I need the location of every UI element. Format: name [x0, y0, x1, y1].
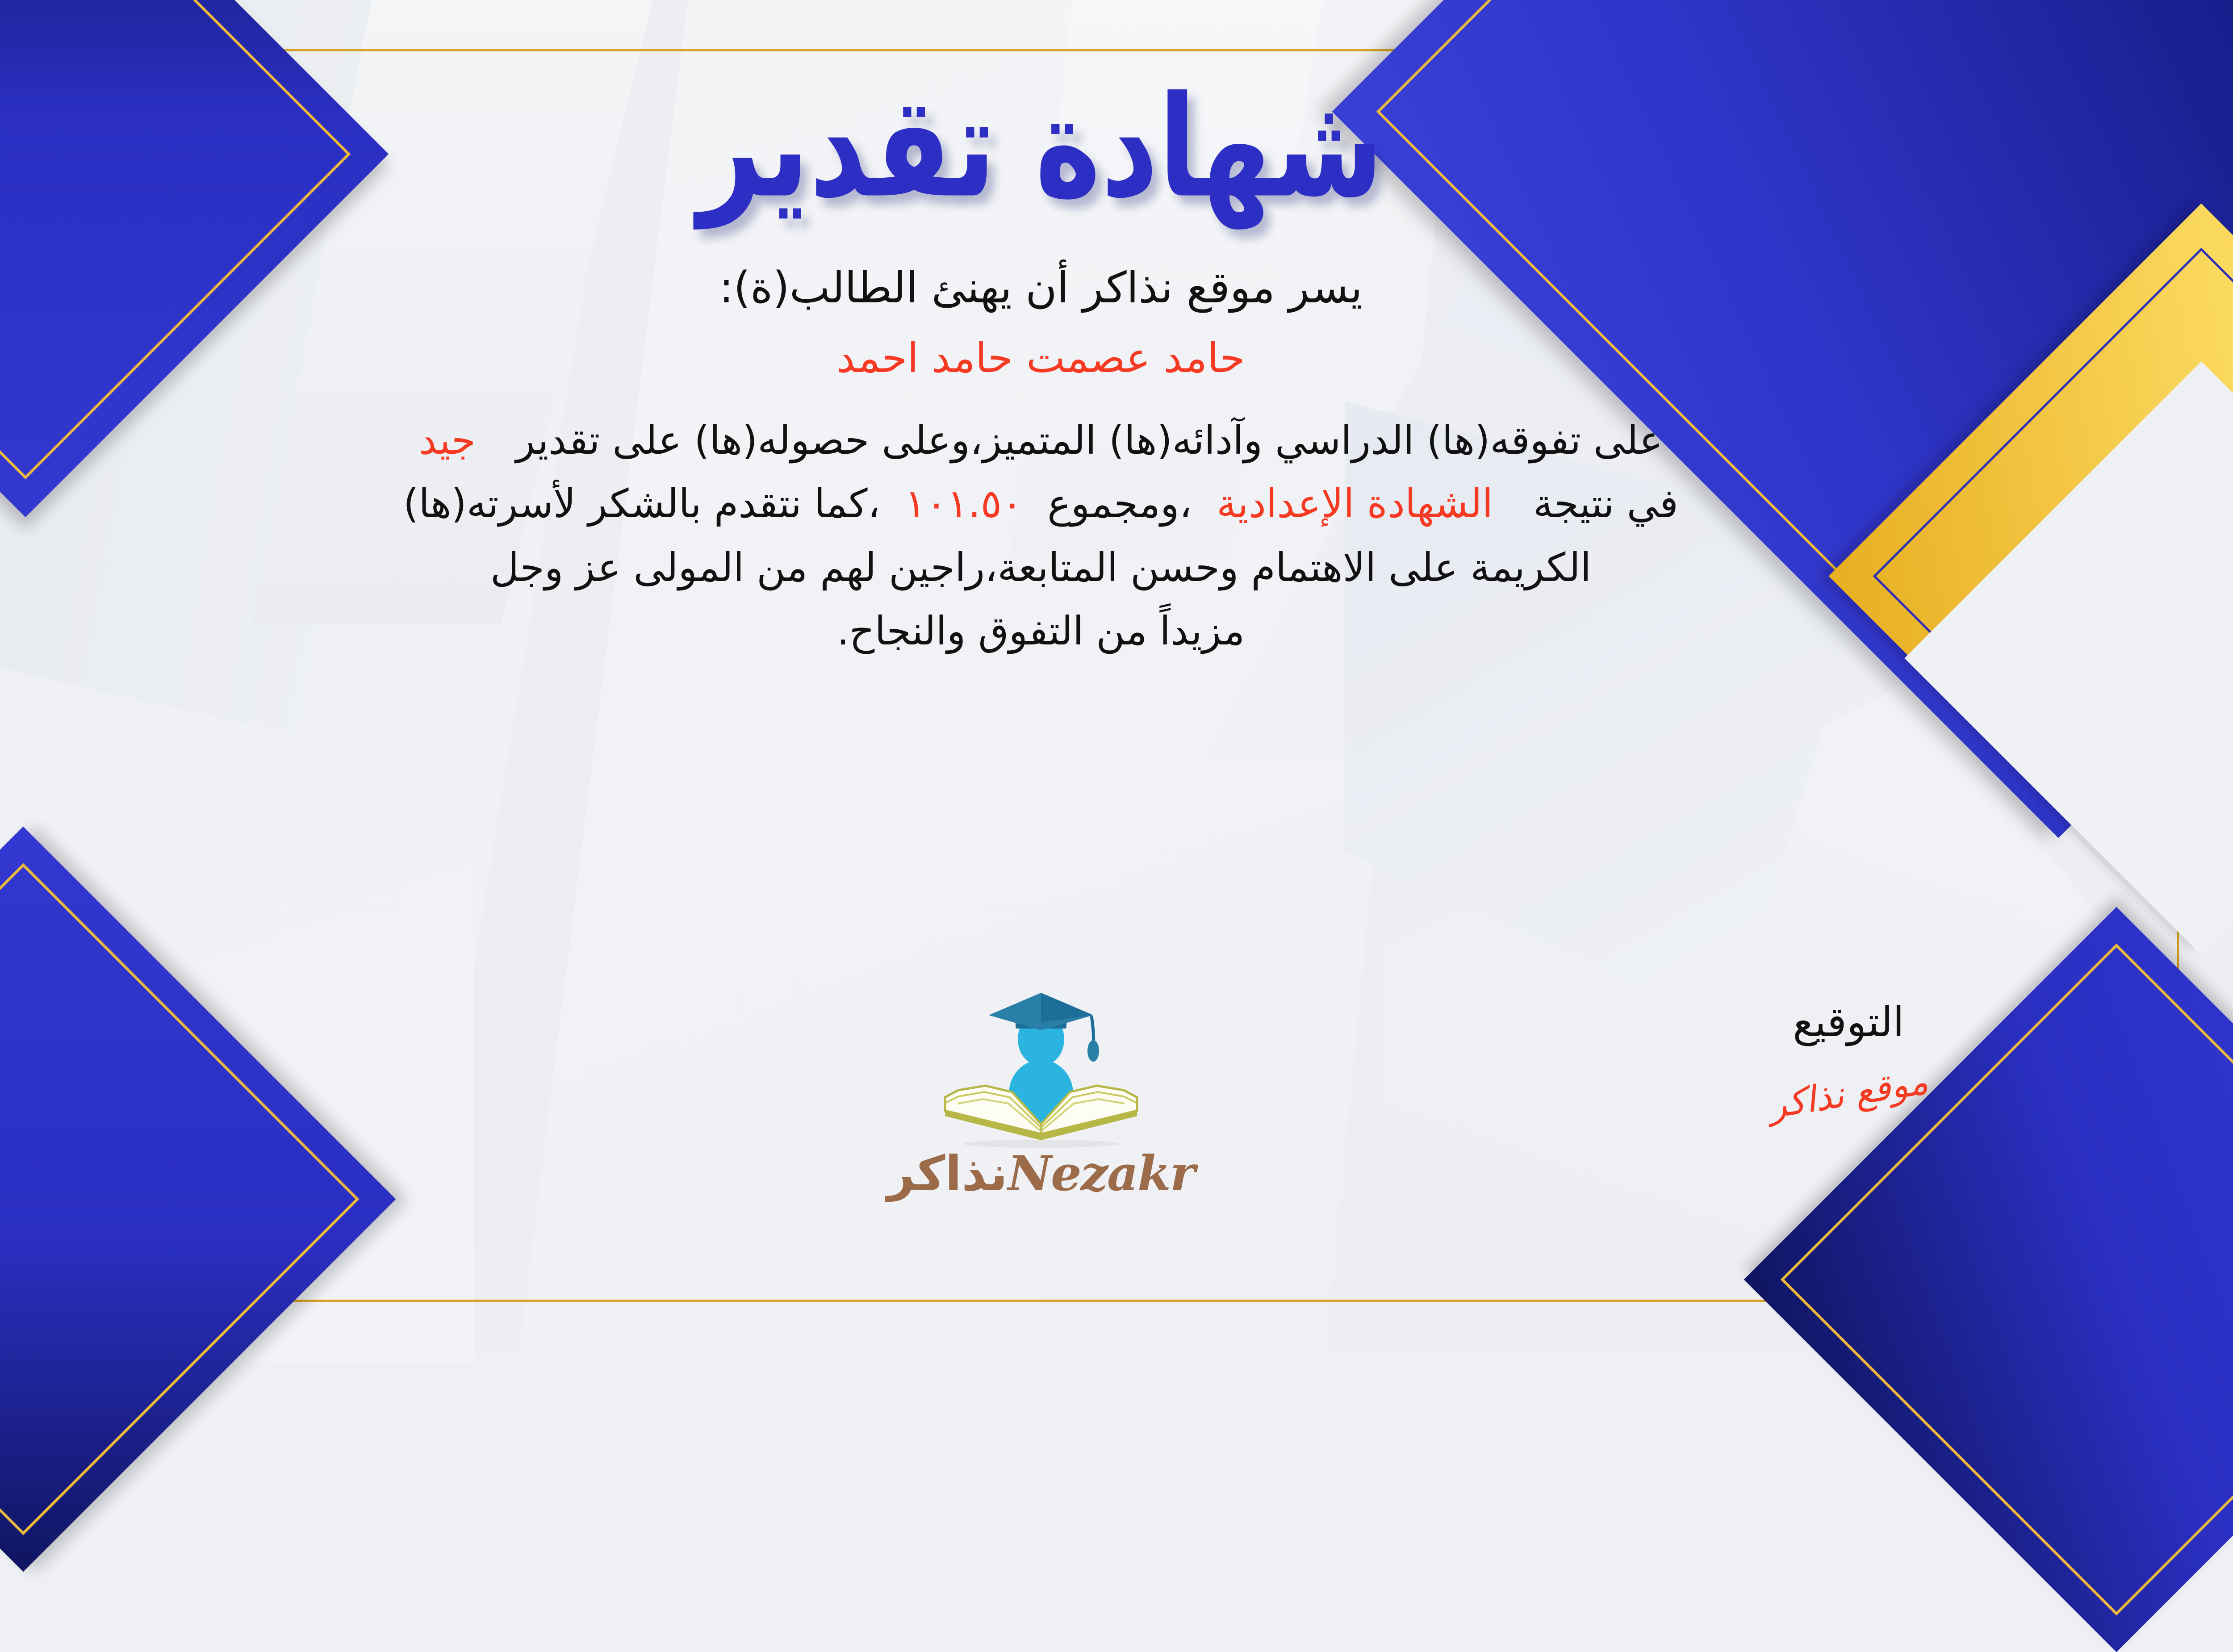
body-line-1: على تفوقه(ها) الدراسي وآدائه(ها) المتميز…: [0, 409, 2144, 473]
signature-mark: موقع نذاكر: [1766, 1060, 1931, 1126]
logo-arabic-text: نذاكر: [887, 1146, 1008, 1202]
logo-wordmark: Nezakrنذاكر: [872, 1146, 1211, 1202]
grade-value: جيد: [419, 417, 476, 463]
exam-name: الشهادة الإعدادية: [1217, 481, 1493, 527]
signature-block: التوقيع موقع نذاكر: [1724, 998, 1974, 1114]
graduate-over-open-book-icon: [937, 980, 1146, 1150]
certificate-body: على تفوقه(ها) الدراسي وآدائه(ها) المتميز…: [0, 409, 2144, 663]
body-line-4: مزيداً من التفوق والنجاح.: [0, 599, 2144, 663]
greeting-line: يسر موقع نذاكر أن يهنئ الطالب(ة):: [719, 263, 1363, 313]
logo-latin-text: Nezakr: [1008, 1146, 1195, 1202]
total-score: ١٠١.٥٠: [905, 481, 1023, 527]
body-line-3: الكريمة على الاهتمام وحسن المتابعة،راجين…: [0, 536, 2144, 600]
body-line-2: في نتيجةالشهادة الإعدادية،ومجموع١٠١.٥٠،ك…: [0, 472, 2144, 536]
student-name: حامد عصمت حامد احمد: [837, 334, 1246, 382]
certificate-title: شهادة تقدير: [698, 67, 1384, 227]
certificate-content: شهادة تقدير يسر موقع نذاكر أن يهنئ الطال…: [0, 54, 2144, 1297]
body-line-1-text: على تفوقه(ها) الدراسي وآدائه(ها) المتميز…: [516, 417, 1663, 463]
body-line-2-suffix: ،كما نتقدم بالشكر لأسرته(ها): [404, 481, 881, 527]
nezakr-logo: Nezakrنذاكر: [872, 980, 1211, 1202]
certificate-footer: التوقيع موقع نذاكر: [0, 980, 2144, 1266]
signature-label: التوقيع: [1724, 998, 1974, 1046]
body-line-2-prefix: في نتيجة: [1534, 481, 1679, 527]
body-line-2-mid: ،ومجموع: [1048, 481, 1192, 527]
